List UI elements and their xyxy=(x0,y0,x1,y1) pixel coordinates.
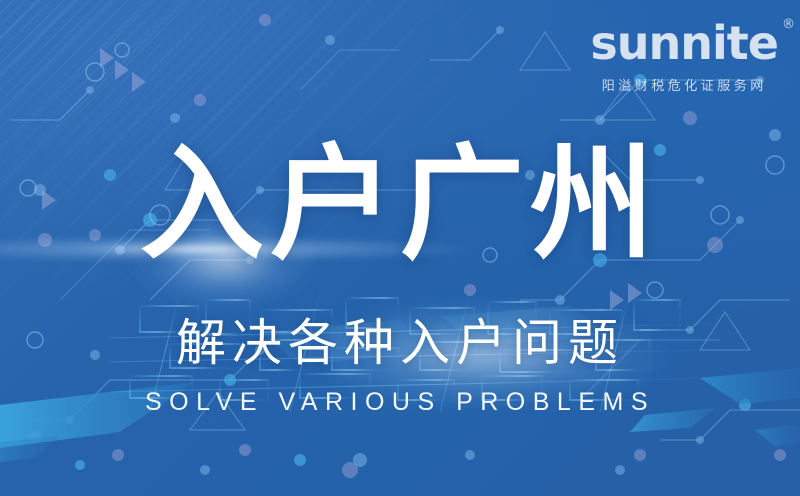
tagline-text: SOLVE VARIOUS PROBLEMS xyxy=(0,388,800,417)
brand-logo: sunnite ® 阳溢财税危化证服务网 xyxy=(590,20,778,94)
subtitle-text: 解决各种入户问题 xyxy=(0,315,800,373)
promo-banner: sunnite ® 阳溢财税危化证服务网 入户广州 解决各种入户问题 SOLVE… xyxy=(0,0,800,496)
logo-wordmark-text: sunnite xyxy=(590,16,778,70)
registered-trademark-icon: ® xyxy=(782,18,794,31)
logo-wordmark: sunnite ® xyxy=(590,20,778,66)
page-title: 入户广州 xyxy=(0,140,800,270)
logo-subtitle: 阳溢财税危化证服务网 xyxy=(590,75,778,94)
